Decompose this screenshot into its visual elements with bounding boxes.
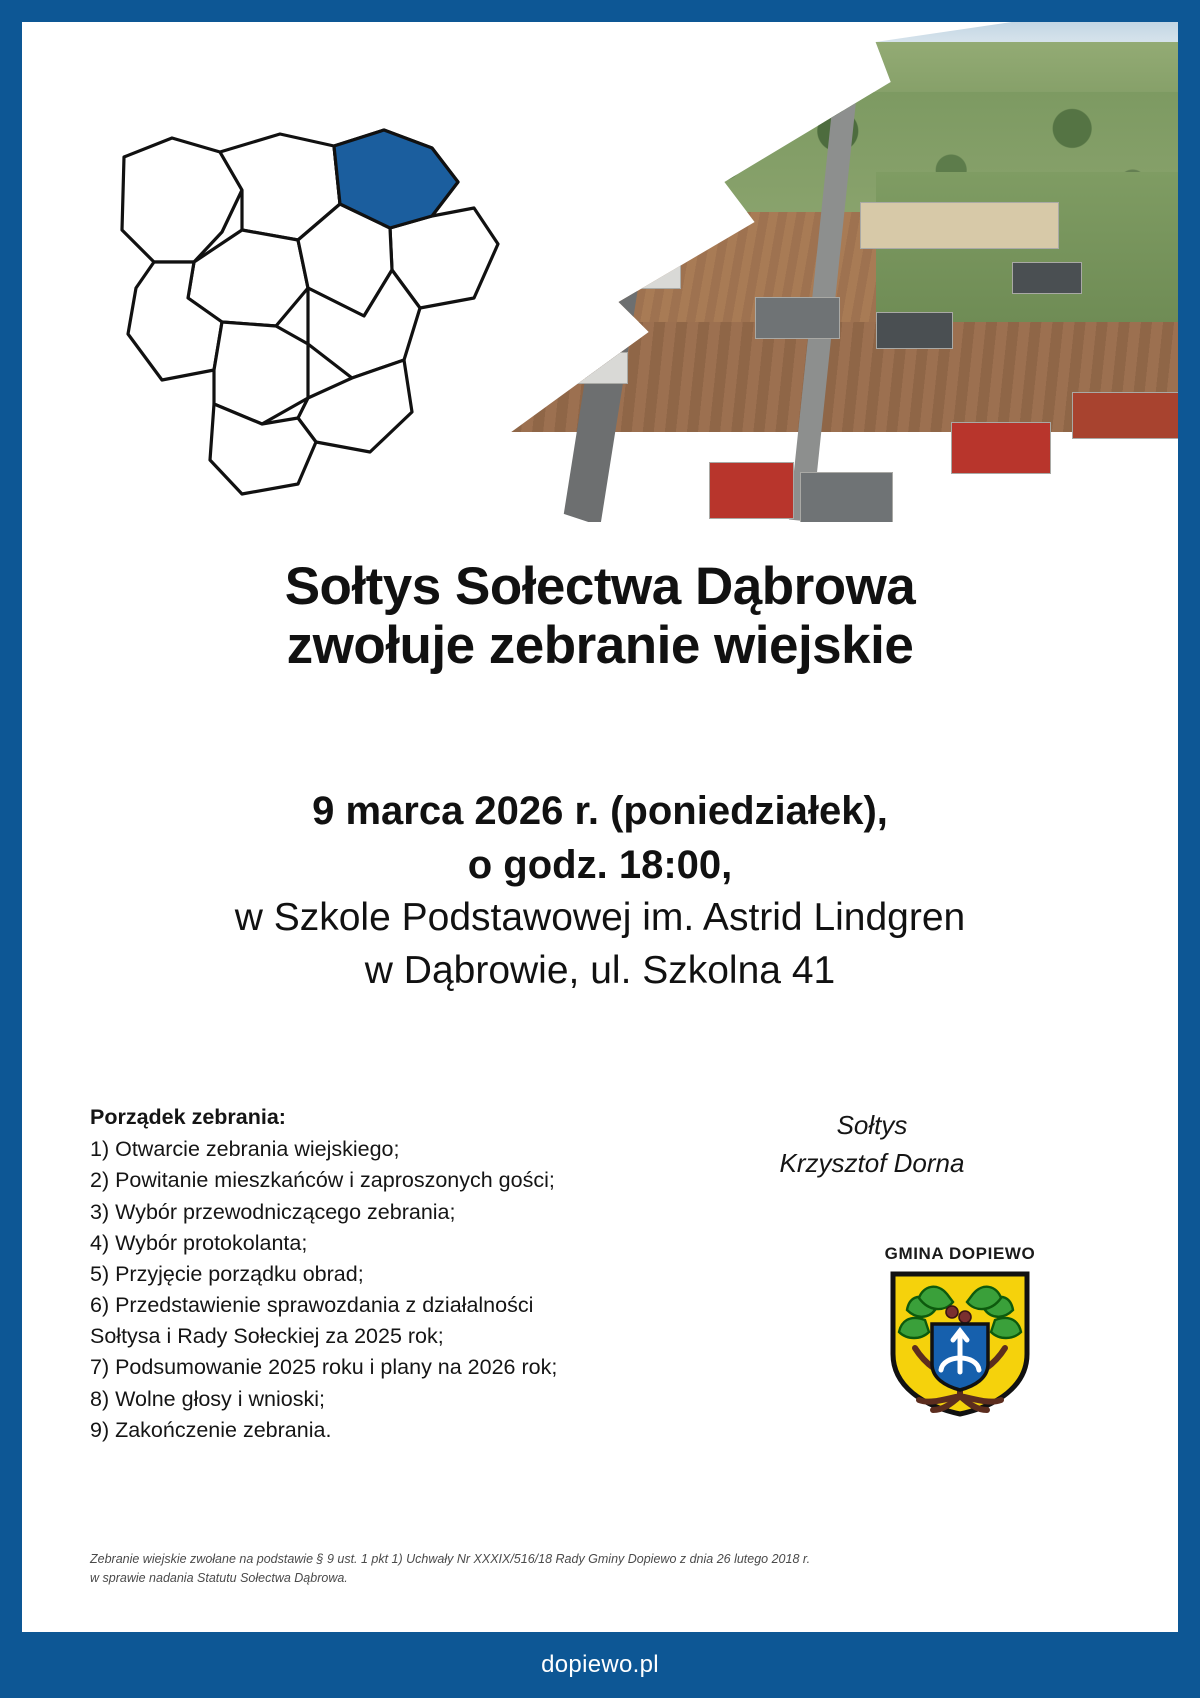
page-title: Sołtys Sołectwa Dąbrowa zwołuje zebranie… <box>22 557 1178 676</box>
photo-building <box>755 297 840 339</box>
footnote-line-1: Zebranie wiejskie zwołane na podstawie §… <box>90 1550 990 1569</box>
signature-name: Krzysztof Dorna <box>662 1145 1082 1183</box>
list-item: 4) Wybór protokolanta; <box>90 1228 620 1259</box>
website-link[interactable]: dopiewo.pl <box>541 1651 659 1679</box>
meeting-date: 9 marca 2026 r. (poniedziałek), <box>22 784 1178 838</box>
photo-building <box>876 312 954 349</box>
meeting-venue-line-1: w Szkole Podstawowej im. Astrid Lindgren <box>22 892 1178 945</box>
list-item: 5) Przyjęcie porządku obrad; <box>90 1259 620 1290</box>
poster-canvas: Dąbrowa Sołtys Sołectwa Dąbrowa zwołuje … <box>22 22 1178 1676</box>
locality-map: Dąbrowa <box>102 112 502 502</box>
agenda-section: Porządek zebrania: 1) Otwarcie zebrania … <box>90 1102 620 1446</box>
photo-building <box>1012 262 1082 294</box>
meeting-time: o godz. 18:00, <box>22 838 1178 892</box>
list-item: 8) Wolne głosy i wnioski; <box>90 1384 620 1415</box>
map-region-label: Dąbrowa <box>428 257 484 272</box>
crest-shield-icon <box>885 1268 1035 1418</box>
list-item: 1) Otwarcie zebrania wiejskiego; <box>90 1134 620 1165</box>
list-item: 6) Przedstawienie sprawozdania z działal… <box>90 1290 620 1352</box>
list-item: 2) Powitanie mieszkańców i zaproszonych … <box>90 1165 620 1196</box>
photo-building <box>860 202 1059 249</box>
footer-bar: dopiewo.pl <box>0 1632 1200 1698</box>
footnote-line-2: w sprawie nadania Statutu Sołectwa Dąbro… <box>90 1569 990 1588</box>
agenda-list: 1) Otwarcie zebrania wiejskiego; 2) Powi… <box>90 1134 620 1446</box>
meeting-details: 9 marca 2026 r. (poniedziałek), o godz. … <box>22 784 1178 997</box>
photo-building <box>558 352 628 384</box>
photo-building <box>951 422 1051 474</box>
headline-line-2: zwołuje zebranie wiejskie <box>22 616 1178 675</box>
meeting-venue-line-2: w Dąbrowie, ul. Szkolna 41 <box>22 945 1178 998</box>
photo-building <box>709 462 794 519</box>
hero-section: Dąbrowa <box>22 22 1178 542</box>
agenda-title: Porządek zebrania: <box>90 1102 620 1133</box>
crest-title: GMINA DOPIEWO <box>860 1244 1060 1264</box>
signature-role: Sołtys <box>662 1107 1082 1145</box>
coat-of-arms: GMINA DOPIEWO <box>860 1244 1060 1424</box>
list-item: 9) Zakończenie zebrania. <box>90 1415 620 1446</box>
photo-building <box>1072 392 1178 439</box>
photo-building <box>800 472 893 522</box>
photo-building <box>528 252 681 289</box>
signature-block: Sołtys Krzysztof Dorna <box>662 1107 1082 1182</box>
headline-line-1: Sołtys Sołectwa Dąbrowa <box>22 557 1178 616</box>
aerial-photo <box>422 22 1178 522</box>
legal-footnote: Zebranie wiejskie zwołane na podstawie §… <box>90 1550 990 1588</box>
list-item: 3) Wybór przewodniczącego zebrania; <box>90 1197 620 1228</box>
list-item: 7) Podsumowanie 2025 roku i plany na 202… <box>90 1352 620 1383</box>
